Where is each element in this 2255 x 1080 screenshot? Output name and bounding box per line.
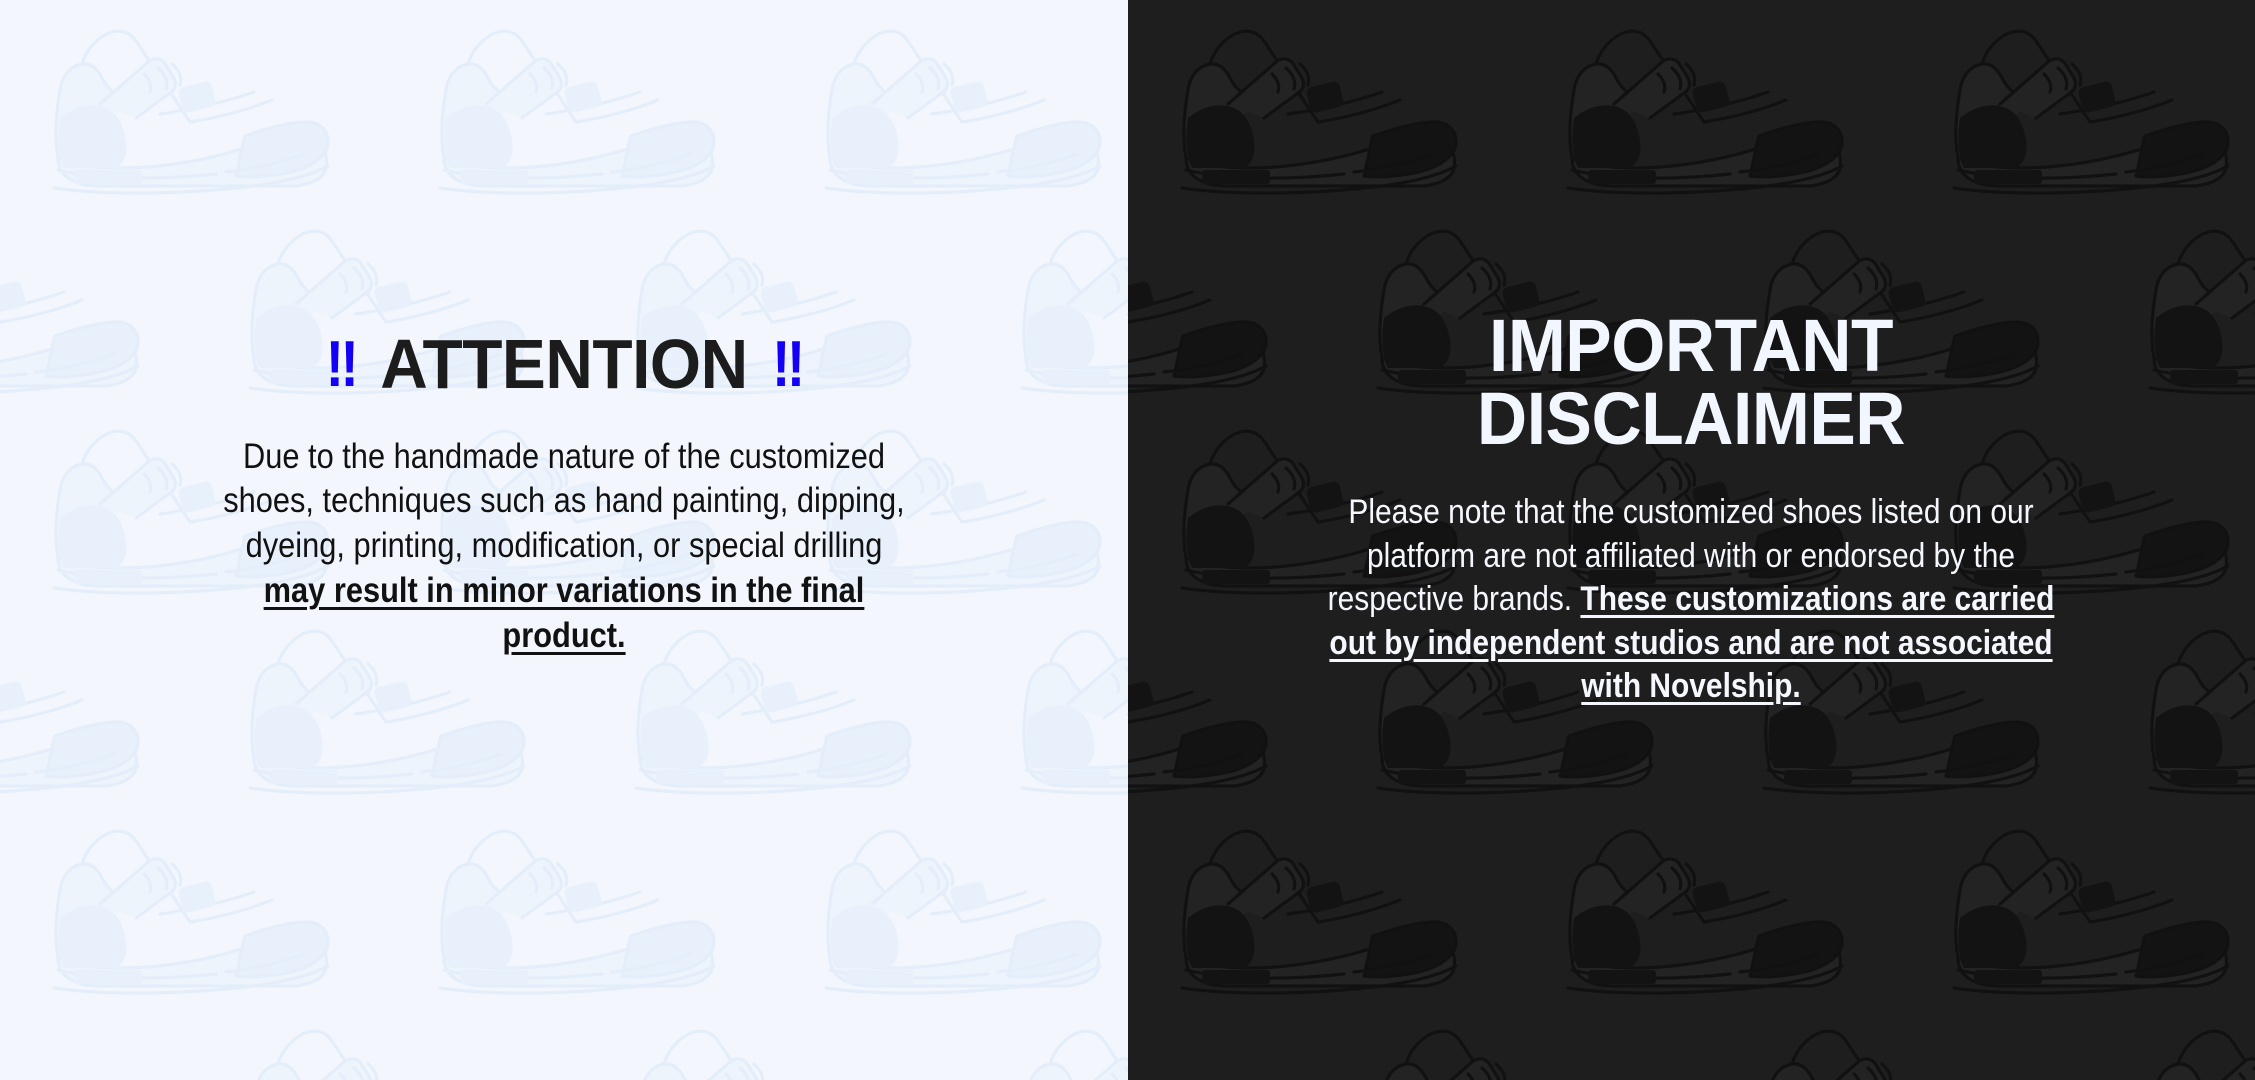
disclaimer-heading-line2: DISCLAIMER (1477, 377, 1905, 460)
attention-heading-text: ATTENTION (380, 325, 747, 403)
attention-heading: ‼ATTENTION‼ (192, 330, 935, 399)
double-exclamation-icon-right: ‼ (772, 334, 802, 398)
disclaimer-body: Please note that the customized shoes li… (1326, 491, 2056, 709)
attention-body-emphasis: may result in minor variations in the fi… (263, 571, 864, 655)
disclaimer-panel: IMPORTANT DISCLAIMER Please note that th… (1128, 0, 2255, 1080)
attention-content: ‼ATTENTION‼ Due to the handmade nature o… (169, 330, 959, 659)
double-exclamation-icon-left: ‼ (325, 334, 355, 398)
disclaimer-content: IMPORTANT DISCLAIMER Please note that th… (1276, 310, 2106, 709)
attention-panel: ‼ATTENTION‼ Due to the handmade nature o… (0, 0, 1128, 1080)
disclaimer-heading: IMPORTANT DISCLAIMER (1301, 310, 2081, 455)
attention-body: Due to the handmade nature of the custom… (216, 435, 911, 659)
attention-body-normal: Due to the handmade nature of the custom… (223, 437, 905, 566)
attention-disclaimer-banner: ‼ATTENTION‼ Due to the handmade nature o… (0, 0, 2255, 1080)
disclaimer-heading-line1: IMPORTANT (1489, 304, 1893, 387)
